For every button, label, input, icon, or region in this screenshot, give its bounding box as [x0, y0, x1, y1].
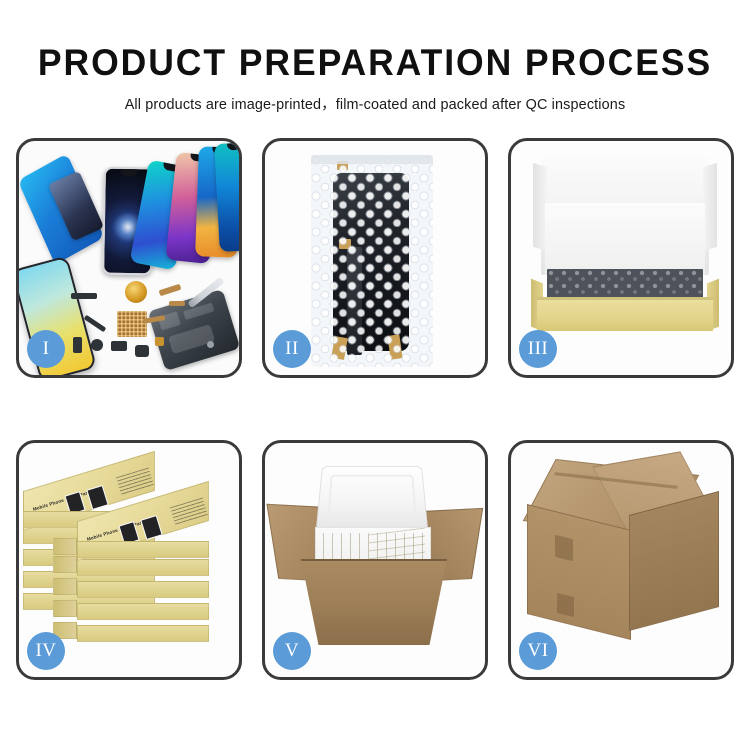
screw-set-icon [155, 337, 164, 346]
sim-tray-icon [73, 337, 82, 353]
page-title: PRODUCT PREPARATION PROCESS [15, 44, 735, 81]
carton-tape-upper-icon [555, 535, 573, 561]
bubble-bag-icon [311, 155, 433, 367]
foam-sheet-icon [545, 203, 705, 275]
step-panel-inner-box: III [508, 138, 734, 378]
step-panel-bubble-wrap: II [262, 138, 488, 378]
camera-module-icon [135, 345, 149, 357]
page-subtitle: All products are image-printed，film-coat… [0, 98, 750, 112]
flex-cable-1-icon [159, 284, 182, 297]
step-panel-sealed-carton: VI [508, 440, 734, 680]
step-panel-boxes-stacked: Mobile Phone Spare Parts [16, 440, 242, 680]
box-front-icon [537, 297, 713, 331]
carton-side-face-icon [629, 491, 719, 631]
speaker-coil-icon [125, 281, 147, 303]
flex-cable-2-icon [169, 301, 185, 306]
step-badge-1: I [27, 330, 65, 368]
step-badge-5: V [273, 632, 311, 670]
carton-tape-lower-icon [557, 593, 574, 617]
step-badge-3: III [519, 330, 557, 368]
process-steps-grid: I II [16, 138, 734, 678]
gold-chip-icon [117, 311, 147, 337]
speaker-grille-icon [71, 293, 97, 299]
vibrator-icon [91, 339, 103, 351]
box-lid-right-flap-icon [703, 163, 717, 252]
page-header: PRODUCT PREPARATION PROCESS All products… [0, 0, 750, 112]
bubble-texture [311, 155, 433, 367]
step-panel-product-parts: I [16, 138, 242, 378]
step-badge-2: II [273, 330, 311, 368]
bag-seal-icon [311, 155, 433, 164]
step-panel-foam-carton: V [262, 440, 488, 680]
product-preparation-page: PRODUCT PREPARATION PROCESS All products… [0, 0, 750, 750]
bubble-contents-icon [547, 269, 703, 299]
step-badge-4: IV [27, 632, 65, 670]
carton-body-icon [301, 559, 447, 645]
small-screw-icon [207, 341, 214, 348]
foam-lid-icon [316, 466, 429, 532]
step-badge-6: VI [519, 632, 557, 670]
battery-connector-icon [111, 341, 127, 351]
